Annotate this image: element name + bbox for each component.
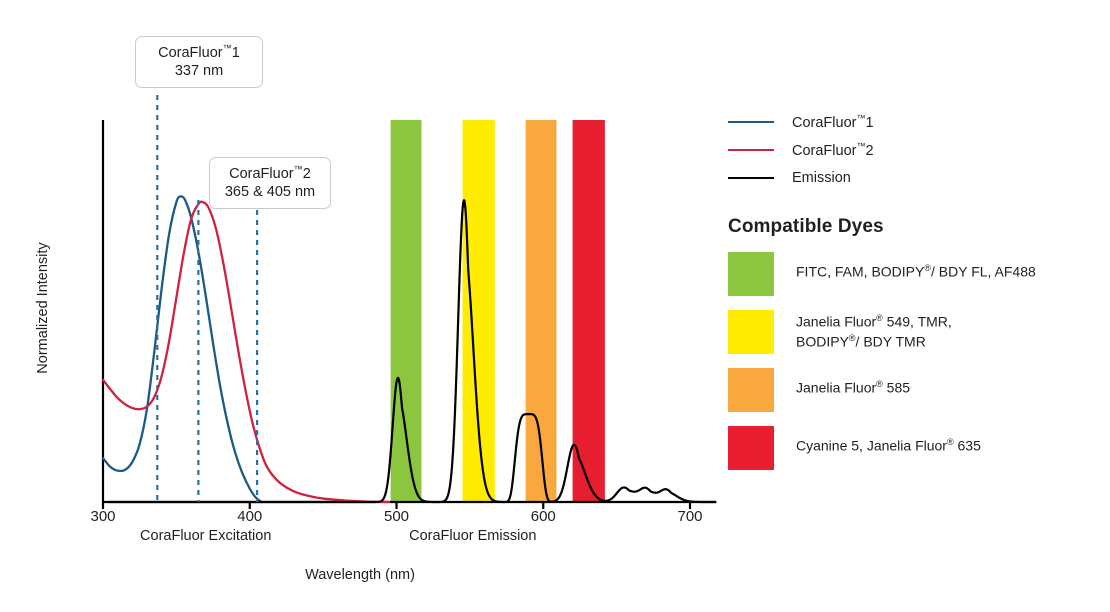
green-band bbox=[391, 120, 422, 502]
chart-page: CoraFluor™1 337 nm CoraFluor™2 365 & 405… bbox=[0, 0, 1110, 612]
legend-line-swatch-0 bbox=[728, 121, 774, 123]
legend-line-entries: CoraFluor™1CoraFluor™2Emission bbox=[728, 108, 1098, 192]
red-band bbox=[573, 120, 605, 502]
legend-panel: CoraFluor™1CoraFluor™2Emission Compatibl… bbox=[728, 108, 1098, 470]
compatible-dyes-title: Compatible Dyes bbox=[728, 216, 1098, 238]
yellow-band bbox=[463, 120, 495, 502]
dye-color-swatch-1 bbox=[728, 310, 774, 354]
y-axis-title: Normalized Intensity bbox=[35, 208, 51, 408]
legend-line-row-0: CoraFluor™1 bbox=[728, 108, 1098, 136]
dye-row-1: Janelia Fluor® 549, TMR,BODIPY®/ BDY TMR bbox=[728, 310, 1098, 354]
x-axis-sub-emission: CoraFluor Emission bbox=[373, 528, 573, 544]
legend-line-swatch-1 bbox=[728, 149, 774, 151]
dye-label-3: Cyanine 5, Janelia Fluor® 635 bbox=[796, 426, 981, 456]
x-tick-label-600: 600 bbox=[513, 508, 573, 525]
x-tick-label-700: 700 bbox=[660, 508, 720, 525]
dye-color-swatch-0 bbox=[728, 252, 774, 296]
x-axis-title: Wavelength (nm) bbox=[0, 567, 720, 583]
dye-row-2: Janelia Fluor® 585 bbox=[728, 368, 1098, 412]
dye-color-swatch-3 bbox=[728, 426, 774, 470]
legend-line-label-2: Emission bbox=[792, 170, 851, 186]
legend-line-label-1: CoraFluor™2 bbox=[792, 141, 874, 159]
dye-row-0: FITC, FAM, BODIPY®/ BDY FL, AF488 bbox=[728, 252, 1098, 296]
x-tick-label-500: 500 bbox=[367, 508, 427, 525]
callout-cf1-line2: 337 nm bbox=[148, 63, 250, 81]
compatible-dyes-list: FITC, FAM, BODIPY®/ BDY FL, AF488Janelia… bbox=[728, 252, 1098, 470]
curve-corafluor2 bbox=[103, 202, 389, 502]
x-tick-label-400: 400 bbox=[220, 508, 280, 525]
callout-cf1-line1: CoraFluor™1 bbox=[148, 43, 250, 63]
dye-row-3: Cyanine 5, Janelia Fluor® 635 bbox=[728, 426, 1098, 470]
callout-cf2-line1: CoraFluor™2 bbox=[222, 164, 318, 184]
callout-corafluor-2: CoraFluor™2 365 & 405 nm bbox=[209, 157, 331, 209]
x-tick-label-300: 300 bbox=[73, 508, 133, 525]
callout-cf2-line2: 365 & 405 nm bbox=[222, 184, 318, 202]
legend-line-label-0: CoraFluor™1 bbox=[792, 113, 874, 131]
callout-corafluor-1: CoraFluor™1 337 nm bbox=[135, 36, 263, 88]
dye-label-0: FITC, FAM, BODIPY®/ BDY FL, AF488 bbox=[796, 252, 1036, 282]
dye-label-1: Janelia Fluor® 549, TMR,BODIPY®/ BDY TMR bbox=[796, 310, 952, 351]
legend-line-row-1: CoraFluor™2 bbox=[728, 136, 1098, 164]
x-axis-sub-excitation: CoraFluor Excitation bbox=[106, 528, 306, 544]
dye-label-2: Janelia Fluor® 585 bbox=[796, 368, 910, 398]
dye-color-swatch-2 bbox=[728, 368, 774, 412]
legend-line-row-2: Emission bbox=[728, 164, 1098, 192]
legend-line-swatch-2 bbox=[728, 177, 774, 179]
